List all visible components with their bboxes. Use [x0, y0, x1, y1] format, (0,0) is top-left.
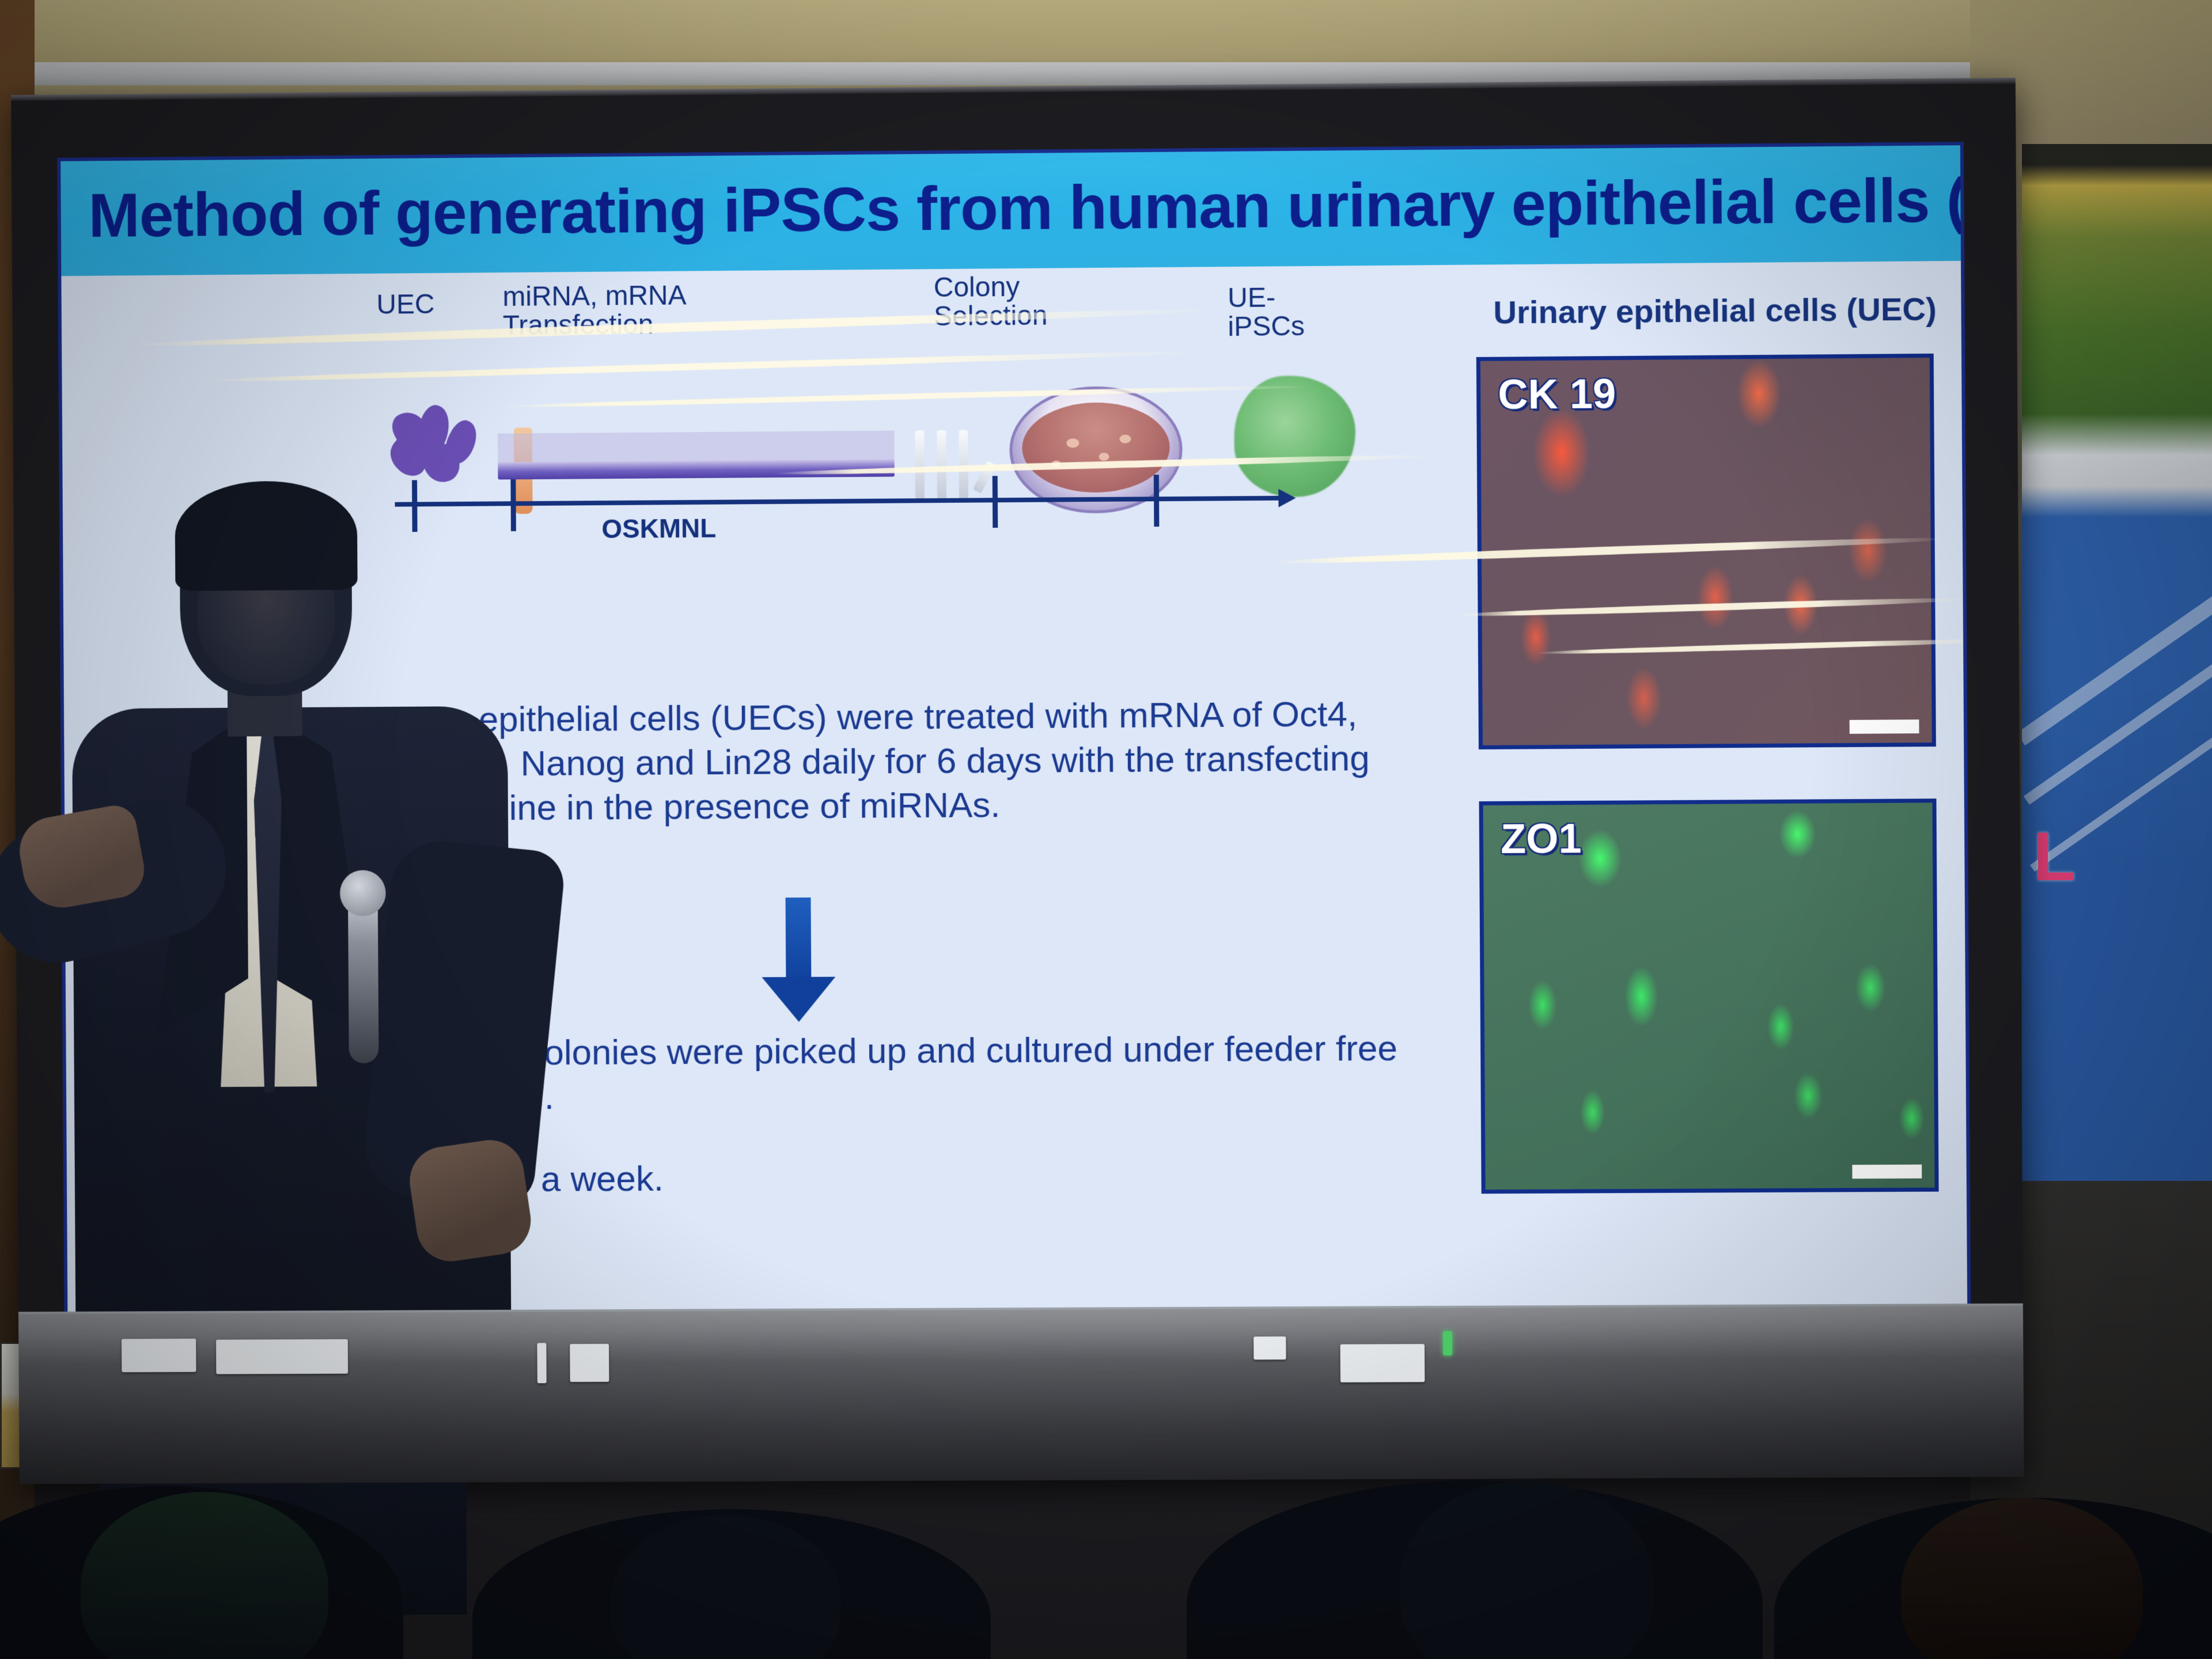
micrograph-label-ck19: CK 19 [1498, 370, 1616, 419]
audience-row [0, 1406, 2212, 1659]
display-port-slot [537, 1343, 546, 1383]
slide-right-column: Urinary epithelial cells (UEC) CK 19 ZO1 [1464, 290, 1945, 1332]
diagram-label-transfection: miRNA, mRNA Transfection [502, 282, 687, 341]
microphone-head-icon [340, 870, 386, 916]
diagram-label-colony-selection: Colony Selection [934, 273, 1048, 332]
display-control-button[interactable] [216, 1339, 348, 1374]
down-arrow-head-icon [762, 977, 835, 1022]
ipsc-colony-icon [1234, 375, 1356, 497]
presentation-display: Method of generating iPSCs from human ur… [11, 78, 2024, 1484]
room-background: L Method of generating iPSCs from human … [0, 0, 2212, 1659]
osk-treatment-bar [498, 460, 895, 480]
right-column-heading: Urinary epithelial cells (UEC) [1493, 290, 1937, 331]
micrograph-label-zo1: ZO1 [1501, 815, 1582, 863]
wall-poster: L [2022, 144, 2212, 1181]
micrograph-zo1: ZO1 [1479, 798, 1939, 1194]
power-led-icon [1443, 1331, 1452, 1355]
back-wall [0, 0, 2212, 69]
display-control-button[interactable] [570, 1344, 609, 1382]
microphone-icon [348, 891, 379, 1063]
micrograph-ck19: CK 19 [1476, 354, 1936, 749]
presenter-right-hand [405, 1135, 535, 1266]
slide-title: Method of generating iPSCs from human ur… [88, 164, 1931, 251]
scale-bar [1852, 1165, 1922, 1179]
pipette-icon [911, 430, 993, 505]
timeline-arrow-icon [1278, 488, 1296, 507]
diagram-label-osknml: OSKMNL [601, 513, 716, 544]
diagram-label-ue-ipscs: UE-iPSCs [1228, 283, 1349, 342]
presenter-hair [175, 480, 357, 591]
diagram-label-uec: UEC [376, 290, 434, 320]
down-arrow-icon [786, 897, 812, 984]
display-control-button[interactable] [1340, 1344, 1425, 1382]
scale-bar [1850, 719, 1919, 734]
timeline-tick [1154, 475, 1160, 527]
poster-letter: L [2033, 824, 2083, 893]
timeline-tick [993, 476, 998, 528]
display-control-button[interactable] [122, 1339, 196, 1372]
display-control-button[interactable] [1253, 1336, 1286, 1359]
